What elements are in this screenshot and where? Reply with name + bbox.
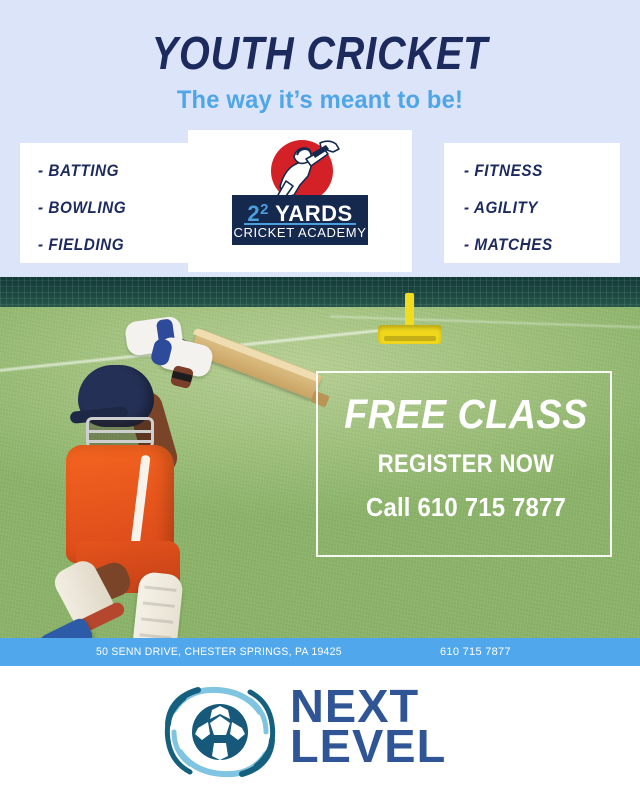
address-text: 50 SENN DRIVE, CHESTER SPRINGS, PA 19425 — [96, 643, 342, 661]
feature-item-bowling: - BOWLING — [38, 189, 126, 226]
next-level-logo: NEXT LEVEL — [160, 678, 490, 786]
features-right-list: - FITNESS - AGILITY - MATCHES — [464, 152, 553, 263]
cta-phone[interactable]: Call 610 715 7877 — [330, 492, 602, 522]
academy-logo: 22 YARDS CRICKET ACADEMY — [188, 133, 412, 269]
academy-logo-box: 22 YARDS CRICKET ACADEMY — [232, 195, 368, 245]
academy-logo-wordmark: 22 YARDS — [232, 198, 368, 226]
training-pole-base — [378, 325, 442, 344]
page-subtitle: The way it’s meant to be! — [16, 86, 624, 114]
academy-logo-number-sup: 2 — [260, 201, 269, 218]
features-left-list: - BATTING - BOWLING - FIELDING — [38, 152, 126, 263]
feature-item-fielding: - FIELDING — [38, 226, 126, 263]
page-title: YOUTH CRICKET — [45, 28, 595, 78]
poster: YOUTH CRICKET The way it’s meant to be! … — [0, 0, 640, 800]
feature-item-batting: - BATTING — [38, 152, 126, 189]
feature-item-fitness: - FITNESS — [464, 152, 553, 189]
next-level-wordmark: NEXT LEVEL — [290, 686, 494, 766]
player-wristband — [170, 365, 194, 389]
feature-item-matches: - MATCHES — [464, 226, 553, 263]
academy-logo-tagline: CRICKET ACADEMY — [232, 224, 368, 241]
address-bar: 50 SENN DRIVE, CHESTER SPRINGS, PA 19425… — [0, 638, 640, 666]
address-phone[interactable]: 610 715 7877 — [440, 643, 511, 661]
free-class-cta[interactable]: FREE CLASS REGISTER NOW Call 610 715 787… — [316, 371, 612, 557]
next-level-line-2: LEVEL — [290, 726, 494, 766]
cta-title: FREE CLASS — [330, 392, 602, 436]
cricket-photo: FREE CLASS REGISTER NOW Call 610 715 787… — [0, 277, 640, 638]
youth-cricketer-figure — [40, 305, 340, 638]
soccer-ball-swirl-icon — [160, 684, 280, 780]
footer: NEXT LEVEL — [0, 666, 640, 800]
feature-item-agility: - AGILITY — [464, 189, 553, 226]
cta-subtitle: REGISTER NOW — [336, 450, 596, 478]
